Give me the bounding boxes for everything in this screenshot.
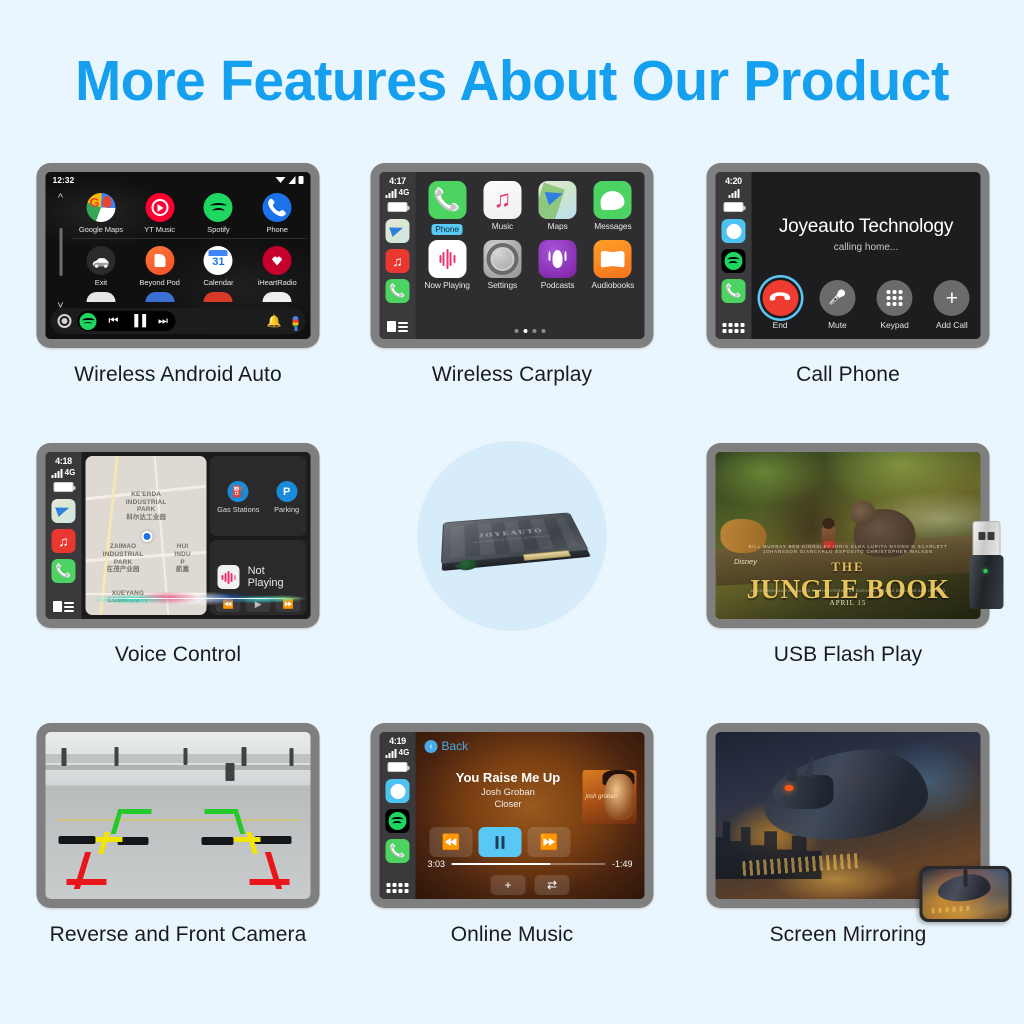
app-label: Music [477, 221, 528, 232]
app-now-playing[interactable]: Now Playing [422, 240, 473, 291]
feature-caption: Reverse and Front Camera [0, 923, 368, 947]
feature-caption: USB Flash Play [678, 643, 1018, 667]
usb-flash-drive [970, 521, 1004, 609]
app-google-maps[interactable]: Google Maps [72, 193, 131, 234]
now-playing-content: ‹ Back You Raise Me Up Josh Groban Close… [416, 732, 645, 899]
scroll-up-icon[interactable]: ^ [58, 192, 63, 204]
guideline-red-tick-left [67, 879, 107, 885]
guideline-yellow-tick-right [234, 837, 261, 842]
reverse-camera-screen [46, 732, 311, 899]
cellular-signal-icon [52, 468, 63, 478]
maps-icon[interactable] [386, 219, 410, 243]
feature-card-wireless-carplay: 4:17 4G [342, 155, 682, 435]
product-photo-circle: JOYEAUTO MULTIMEDIA VIDEO INTERFACE USB … [417, 441, 607, 631]
app-grid-divider [72, 238, 307, 239]
feature-row-1: 12:32 ^ ˅ [0, 155, 1024, 435]
feature-caption: Screen Mirroring [678, 923, 1018, 947]
plus-icon[interactable]: + [491, 875, 526, 895]
settings-gear-icon [483, 240, 521, 278]
app-label: Maps [532, 221, 583, 232]
car-exit-icon [86, 246, 115, 275]
phone-icon[interactable] [52, 559, 76, 583]
rewind-icon[interactable]: ⏪ [430, 827, 473, 857]
poster-cast-credits: BILL MURRAY BEN KINGSLEY IDRIS ELBA LUPI… [731, 544, 964, 554]
spotify-icon [204, 193, 233, 222]
map-label-xueyang: XUEYANGCOMMUNITY [90, 590, 165, 605]
app-label: Phone [248, 225, 307, 234]
home-lines [398, 322, 408, 332]
feature-card-screen-mirroring: Screen Mirroring [678, 715, 1018, 995]
status-signal-row: 4G [380, 187, 416, 198]
cellular-signal-icon [386, 188, 397, 198]
pause-icon[interactable]: ▐▐ [130, 316, 146, 327]
track-artist: Josh Groban [444, 786, 573, 797]
status-time: 4:20 [716, 176, 752, 187]
podcasts-icon [539, 240, 577, 278]
feature-grid: 12:32 ^ ˅ [0, 155, 1024, 995]
poi-parking[interactable]: P Parking [274, 481, 299, 514]
wheel-stop [255, 836, 292, 844]
phone-icon[interactable] [722, 279, 746, 303]
app-yt-music[interactable]: YT Music [130, 193, 189, 234]
app-label: iHeartRadio [248, 278, 307, 287]
app-settings[interactable]: Settings [477, 240, 528, 291]
waze-icon[interactable] [722, 219, 746, 243]
battery-icon [388, 762, 408, 772]
maps-icon[interactable] [52, 499, 76, 523]
head-unit-device-carplay: 4:17 4G [371, 163, 654, 348]
head-unit-device-android-auto: 12:32 ^ ˅ [37, 163, 320, 348]
status-time: 4:18 [46, 456, 82, 467]
current-location-dot [141, 531, 152, 542]
button-label: End [762, 320, 798, 330]
now-playing-status: Not Playing [248, 565, 299, 589]
head-unit-device-mirroring [707, 723, 990, 908]
google-maps-icon [86, 193, 115, 222]
carplay-screen: 4:17 4G [380, 172, 645, 339]
battery-icon [388, 202, 408, 212]
carplay-app-area: Phone Music Maps [416, 172, 645, 339]
app-audiobooks[interactable]: Audiobooks [587, 240, 638, 291]
app-label: Google Maps [72, 225, 131, 234]
app-label: Now Playing [422, 280, 473, 291]
app-exit[interactable]: Exit [72, 246, 131, 287]
messages-icon [594, 181, 632, 219]
app-label: Phone [431, 224, 463, 235]
guideline-green-top-right [205, 809, 234, 814]
app-podcasts[interactable]: Podcasts [532, 240, 583, 291]
bell-icon[interactable]: 🔔 [267, 314, 282, 328]
button-label: Keypad [877, 320, 913, 330]
page-title: More Features About Our Product [15, 48, 1008, 114]
pause-icon[interactable] [479, 827, 522, 857]
apple-music-icon [483, 181, 521, 219]
partial-app-icon [86, 292, 115, 302]
app-beyond-pod[interactable]: Beyond Pod [130, 246, 189, 287]
carplay-home-icon[interactable] [53, 601, 74, 612]
voice-side-panels: ⛽ Gas Stations P Parking [210, 456, 307, 615]
game-dragon-head [774, 775, 834, 809]
feature-caption: Online Music [342, 923, 682, 947]
partial-app-icon [145, 292, 174, 302]
android-auto-screen: 12:32 ^ ˅ [46, 172, 311, 339]
audiobooks-icon [594, 240, 632, 278]
app-label: Audiobooks [587, 280, 638, 291]
poster-fineprint: A JON FAVREAU FILM BASED ON THE STORIES … [731, 589, 964, 593]
guideline-green-top-left [122, 809, 151, 814]
media-transport-controls: ⏪ ▶ ⏩ [216, 597, 301, 612]
battery-icon [54, 482, 74, 492]
app-label: Beyond Pod [130, 278, 189, 287]
elapsed-time: 3:03 [428, 859, 446, 869]
app-label: Exit [72, 278, 131, 287]
playback-controls: ⏪ ⏩ [430, 827, 571, 857]
mute-button[interactable]: Mute [819, 280, 855, 330]
parking-garage-ceiling [46, 732, 311, 785]
page-dot[interactable] [515, 329, 519, 333]
carplay-now-playing-screen: 4:19 4G [380, 732, 645, 899]
sidebar-app-list [716, 219, 752, 303]
network-type-label: 4G [65, 468, 76, 478]
app-row-1: Google Maps YT Music Spotify [72, 193, 307, 234]
map-label-keerda: KE'ERDAINDUSTRIALPARK科尔达工业园 [86, 491, 207, 521]
carplay-sidebar: 4:18 4G [46, 452, 82, 619]
keypad-grid-icon[interactable] [723, 323, 745, 333]
jungle-book-poster: BILL MURRAY BEN KINGSLEY IDRIS ELBA LUPI… [716, 452, 981, 619]
iheartradio-icon [263, 246, 292, 275]
android-auto-taskbar: ⏮ ▐▐ ⏭ 🔔 [51, 308, 306, 334]
sidebar-app-list [380, 219, 416, 303]
feature-caption: Call Phone [678, 363, 1018, 387]
status-icons [276, 176, 304, 184]
home-lines [64, 602, 74, 612]
smartphone-mirror [920, 866, 1012, 922]
app-music[interactable]: Music [477, 181, 528, 237]
status-time: 4:19 [380, 736, 416, 747]
repeat-icon[interactable]: ⇄ [535, 875, 570, 895]
usb-body [970, 555, 1004, 609]
video-playback-screen: BILL MURRAY BEN KINGSLEY IDRIS ELBA LUPI… [716, 452, 981, 619]
fast-forward-icon[interactable]: ⏩ [276, 597, 301, 612]
home-square [387, 321, 396, 332]
map-panel[interactable]: KE'ERDAINDUSTRIALPARK科尔达工业园 ZAIMAOINDUST… [86, 456, 207, 615]
media-controls: ⏮ ▐▐ ⏭ [78, 311, 176, 331]
feature-card-online-music: 4:19 4G [342, 715, 682, 995]
feature-card-product-photo: JOYEAUTO MULTIMEDIA VIDEO INTERFACE USB … [342, 435, 682, 715]
battery-icon [724, 202, 744, 212]
back-label: Back [442, 739, 469, 753]
poi-label: Parking [274, 505, 299, 514]
app-label: Messages [587, 221, 638, 232]
page-dot[interactable] [542, 329, 546, 333]
feature-card-wireless-android-auto: 12:32 ^ ˅ [8, 155, 348, 435]
feature-card-usb-flash-play: BILL MURRAY BEN KINGSLEY IDRIS ELBA LUPI… [678, 435, 1018, 715]
poi-gas-stations[interactable]: ⛽ Gas Stations [217, 481, 259, 514]
netease-music-icon[interactable] [52, 529, 76, 553]
album-artwork: josh groban [583, 770, 637, 824]
sidebar-app-list [380, 779, 416, 863]
skip-previous-icon[interactable]: ⏮ [109, 316, 119, 327]
phone-icon[interactable] [386, 839, 410, 863]
carplay-sidebar: 4:17 4G [380, 172, 416, 339]
spotify-icon[interactable] [80, 313, 97, 330]
extra-controls: + ⇄ [416, 875, 645, 895]
map-label-hui: HUIINDUP航嘉 [161, 543, 205, 573]
assistant-home-icon[interactable] [58, 314, 72, 328]
keypad-grid-icon[interactable] [387, 883, 409, 893]
android-auto-status-bar: 12:32 [46, 172, 311, 188]
button-label: Add Call [934, 320, 970, 330]
fast-forward-icon[interactable]: ⏩ [528, 827, 571, 857]
calendar-icon [204, 246, 233, 275]
plus-icon: + [934, 280, 970, 316]
head-unit-device-music: 4:19 4G [371, 723, 654, 908]
app-iheartradio[interactable]: iHeartRadio [248, 246, 307, 287]
battery-icon [299, 176, 304, 184]
carplay-sidebar: 4:19 4G [380, 732, 416, 899]
phone-notch [964, 869, 968, 887]
status-signal-row: 4G [380, 747, 416, 758]
carplay-call-screen: 4:20 [716, 172, 981, 339]
back-button[interactable]: ‹ Back [425, 739, 469, 753]
usb-connector [973, 521, 1001, 559]
app-label: Settings [477, 280, 528, 291]
artwork-text: josh groban [586, 794, 617, 800]
cellular-signal-icon [728, 188, 739, 198]
poster-release-date: APRIL 15 [716, 599, 981, 607]
feature-card-call-phone: 4:20 [678, 155, 1018, 435]
app-calendar[interactable]: Calendar [189, 246, 248, 287]
caller-name: Joyeauto Technology [752, 216, 981, 238]
spotify-icon[interactable] [722, 249, 746, 273]
map-label-zaimao: ZAIMAOINDUSTRIALPARK在茂产业园 [86, 543, 161, 573]
call-status: calling home... [752, 242, 981, 253]
end-call-button[interactable]: End [762, 280, 798, 330]
progress-track[interactable] [451, 863, 606, 866]
app-spotify[interactable]: Spotify [189, 193, 248, 234]
phone-icon[interactable] [386, 279, 410, 303]
taskbar-right: 🔔 [267, 314, 299, 328]
sidebar-app-list [46, 499, 82, 583]
head-unit-device-video: BILL MURRAY BEN KINGSLEY IDRIS ELBA LUPI… [707, 443, 990, 628]
netease-music-icon[interactable] [386, 249, 410, 273]
parking-icon: P [276, 481, 297, 502]
feature-caption: Wireless Carplay [342, 363, 682, 387]
app-label: Calendar [189, 278, 248, 287]
apple-maps-icon [539, 181, 577, 219]
home-square [53, 601, 62, 612]
chevron-left-icon: ‹ [425, 740, 438, 753]
feature-row-2: 4:18 4G [0, 435, 1024, 715]
guideline-yellow-left [98, 832, 110, 854]
track-title: You Raise Me Up [444, 770, 573, 785]
guideline-green-right [233, 809, 246, 834]
keypad-button[interactable]: Keypad [877, 280, 913, 330]
carplay-app-grid: Phone Music Maps [422, 181, 639, 291]
add-call-button[interactable]: + Add Call [934, 280, 970, 330]
scrollbar-thumb[interactable] [59, 228, 62, 276]
network-type-label: 4G [399, 188, 410, 198]
play-icon[interactable]: ▶ [246, 597, 271, 612]
app-label: YT Music [130, 225, 189, 234]
camera-feed [46, 732, 311, 899]
product-feature-page: More Features About Our Product 12:32 [0, 0, 1024, 1024]
feature-card-reverse-camera: Reverse and Front Camera [8, 715, 348, 995]
cellular-signal-icon [289, 176, 296, 184]
page-indicator[interactable] [416, 329, 645, 333]
app-label: Podcasts [532, 280, 583, 291]
android-auto-home: 12:32 ^ ˅ [46, 172, 311, 339]
feature-card-voice-control: 4:18 4G [8, 435, 348, 715]
youtube-music-icon [145, 193, 174, 222]
usb-led-icon [984, 569, 988, 573]
waze-icon[interactable] [386, 779, 410, 803]
spotify-icon[interactable] [386, 809, 410, 833]
phone-icon [263, 193, 292, 222]
now-playing-card[interactable]: Not Playing ⏪ ▶ ⏩ [210, 540, 307, 616]
feature-caption: Wireless Android Auto [8, 363, 348, 387]
button-label: Mute [819, 320, 855, 330]
progress-fill [451, 863, 550, 866]
status-signal-row: 4G [46, 467, 82, 478]
wheel-stop [59, 836, 96, 844]
status-time: 4:17 [380, 176, 416, 187]
partial-app-icon [263, 292, 292, 302]
app-messages[interactable]: Messages [587, 181, 638, 237]
app-row-2: Exit Beyond Pod Calendar [72, 246, 307, 287]
now-playing-icon [428, 240, 466, 278]
guideline-green-left [111, 809, 124, 834]
partial-app-icon [204, 292, 233, 302]
wheel-stop [202, 837, 234, 845]
floor-lane-marking [55, 819, 301, 821]
guideline-red-tick-right [250, 879, 290, 885]
waveform-bars [439, 249, 455, 269]
app-maps[interactable]: Maps [532, 181, 583, 237]
app-row-3-partial [72, 292, 307, 302]
skip-next-icon[interactable]: ⏭ [158, 316, 168, 327]
end-call-icon [762, 280, 798, 316]
page-dot-active[interactable] [524, 329, 528, 333]
poi-label: Gas Stations [217, 505, 259, 514]
carplay-home-icon[interactable] [387, 321, 408, 332]
guideline-yellow-tick-left [96, 837, 123, 842]
remaining-time: -1:49 [612, 859, 633, 869]
network-type-label: 4G [399, 748, 410, 758]
call-content: Joyeauto Technology calling home... End … [752, 172, 981, 339]
android-auto-app-grid: Google Maps YT Music Spotify [72, 190, 307, 305]
phone-icon [428, 181, 466, 219]
app-label: Spotify [189, 225, 248, 234]
microphone-muted-icon [819, 280, 855, 316]
head-unit-device-camera [37, 723, 320, 908]
rewind-icon[interactable]: ⏪ [216, 597, 241, 612]
keypad-icon [877, 280, 913, 316]
carplay-voice-screen: 4:18 4G [46, 452, 311, 619]
gas-station-icon: ⛽ [228, 481, 249, 502]
progress-bar-row[interactable]: 3:03 -1:49 [428, 859, 633, 869]
beyondpod-icon [145, 246, 174, 275]
now-playing-icon [218, 565, 240, 589]
call-button-row: End Mute Keypad [752, 280, 981, 330]
app-phone[interactable]: Phone [422, 181, 473, 237]
feature-caption: Voice Control [8, 643, 348, 667]
joyeauto-interface-box: JOYEAUTO MULTIMEDIA VIDEO INTERFACE USB … [442, 513, 588, 564]
app-phone[interactable]: Phone [248, 193, 307, 234]
feature-row-3: Reverse and Front Camera 4:19 4G [0, 715, 1024, 995]
head-unit-device-voice: 4:18 4G [37, 443, 320, 628]
status-signal-row [716, 187, 752, 198]
track-album: Closer [444, 798, 573, 809]
voice-dashboard: KE'ERDAINDUSTRIALPARK科尔达工业园 ZAIMAOINDUST… [82, 452, 311, 619]
wifi-icon [276, 177, 286, 183]
head-unit-device-call: 4:20 [707, 163, 990, 348]
android-auto-scroll-controls[interactable]: ^ ˅ [51, 192, 71, 312]
page-dot[interactable] [533, 329, 537, 333]
carplay-sidebar: 4:20 [716, 172, 752, 339]
status-time: 12:32 [53, 175, 75, 185]
poi-suggestions-card: ⛽ Gas Stations P Parking [210, 456, 307, 536]
cellular-signal-icon [386, 748, 397, 758]
google-mic-icon[interactable] [293, 316, 299, 327]
